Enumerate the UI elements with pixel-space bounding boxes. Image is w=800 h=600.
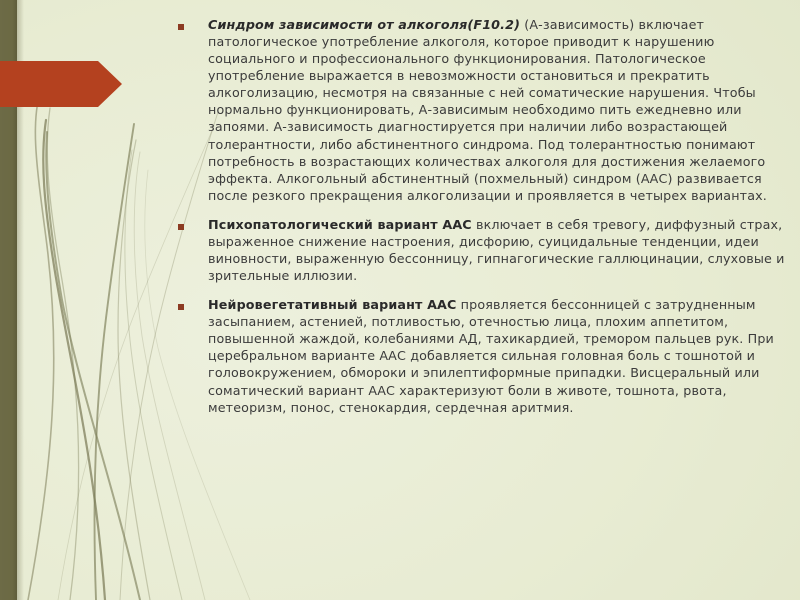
bullet-lead-text: Синдром зависимости от алкоголя(F10.2) [208, 17, 520, 32]
bullet-text-block: Психопатологический вариант ААС включает… [208, 216, 790, 284]
bullet-body-text: (А-зависимость) включает патологическое … [208, 17, 767, 203]
bullet-lead-text: Психопатологический вариант ААС [208, 217, 472, 232]
list-item: Нейровегетативный вариант ААС проявляетс… [178, 296, 790, 416]
bullet-body-text: проявляется бессонницей с затрудненным з… [208, 297, 774, 414]
slide-canvas: Синдром зависимости от алкоголя(F10.2) (… [0, 0, 800, 600]
bullet-square-icon [178, 304, 184, 310]
bullet-square-icon [178, 224, 184, 230]
arrow-banner-icon [0, 61, 122, 107]
bullet-lead-text: Нейровегетативный вариант ААС [208, 297, 456, 312]
list-item: Синдром зависимости от алкоголя(F10.2) (… [178, 16, 790, 204]
bullet-list: Синдром зависимости от алкоголя(F10.2) (… [178, 16, 790, 416]
list-item: Психопатологический вариант ААС включает… [178, 216, 790, 284]
bullet-text-block: Синдром зависимости от алкоголя(F10.2) (… [208, 16, 790, 204]
bullet-square-icon [178, 24, 184, 30]
bullet-text-block: Нейровегетативный вариант ААС проявляетс… [208, 296, 790, 416]
